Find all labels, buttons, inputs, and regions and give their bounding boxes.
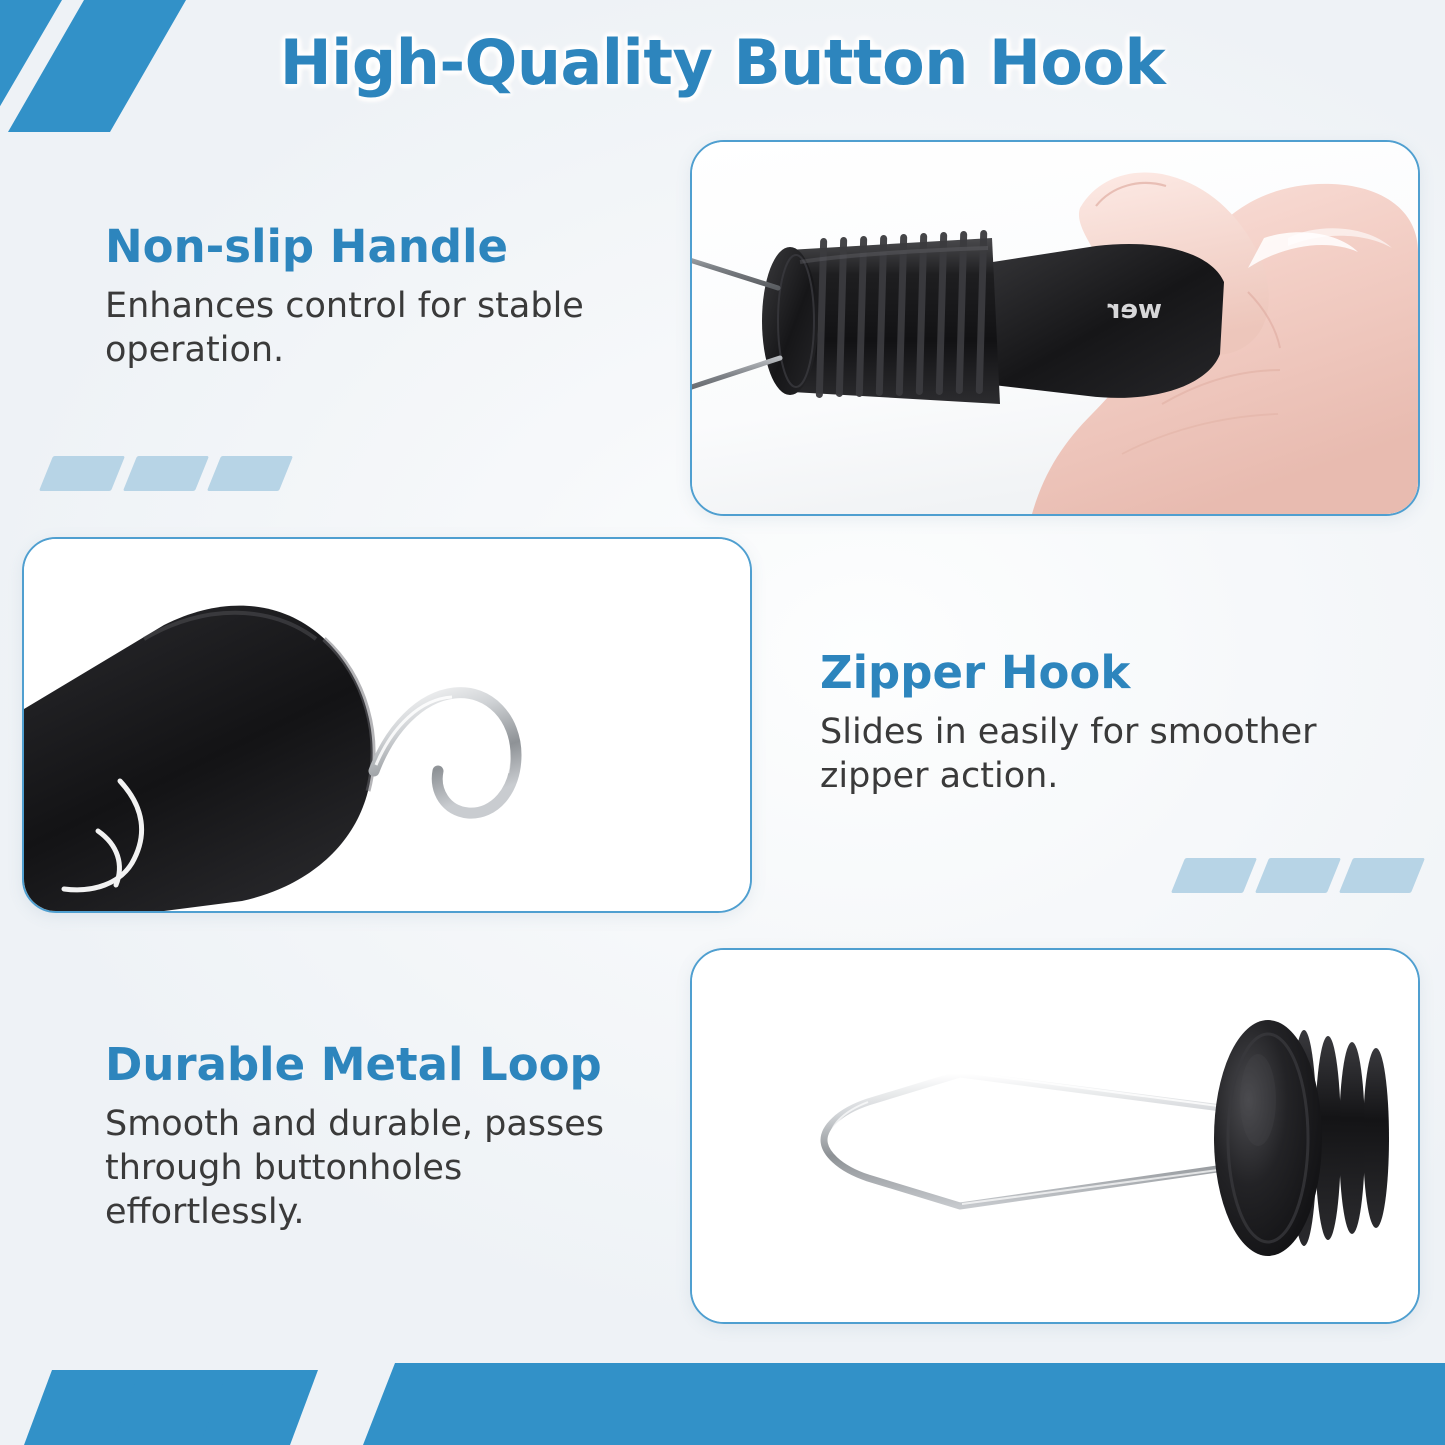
accent-parallelogram (1171, 858, 1257, 893)
feature-body: Smooth and durable, passes through butto… (105, 1102, 665, 1234)
accent-parallelograms-left (46, 456, 286, 491)
feature-body: Slides in easily for smoother zipper act… (820, 710, 1380, 798)
svg-text:wer: wer (1107, 295, 1162, 325)
handle-in-hand-photo: wer (692, 142, 1418, 514)
embossed-brand-text: wer (1107, 295, 1162, 325)
accent-parallelogram (1255, 858, 1341, 893)
photo-panel-zipper-hook (22, 537, 752, 913)
corner-decoration-bottom-right (325, 1333, 1445, 1445)
feature-durable-metal-loop: Durable Metal Loop Smooth and durable, p… (105, 1040, 665, 1234)
infographic-canvas: High-Quality Button Hook (0, 0, 1445, 1445)
handle-end-cap (762, 247, 818, 395)
accent-parallelogram (39, 456, 125, 491)
photo-panel-non-slip-handle: wer (690, 140, 1420, 516)
accent-parallelogram (207, 456, 293, 491)
bottom-right-angle-bar-icon (325, 1333, 1445, 1445)
feature-heading: Zipper Hook (820, 648, 1380, 698)
feature-non-slip-handle: Non-slip Handle Enhances control for sta… (105, 222, 665, 372)
zipper-hook-photo (24, 539, 750, 911)
accent-parallelogram (1339, 858, 1425, 893)
feature-body: Enhances control for stable operation. (105, 284, 665, 372)
feature-heading: Non-slip Handle (105, 222, 665, 272)
accent-parallelograms-right (1178, 858, 1418, 893)
photo-panel-metal-loop (690, 948, 1420, 1324)
feature-zipper-hook: Zipper Hook Slides in easily for smoothe… (820, 648, 1380, 798)
metal-loop-photo (692, 950, 1418, 1322)
accent-parallelogram (123, 456, 209, 491)
feature-heading: Durable Metal Loop (105, 1040, 665, 1090)
page-title: High-Quality Button Hook (0, 26, 1445, 99)
